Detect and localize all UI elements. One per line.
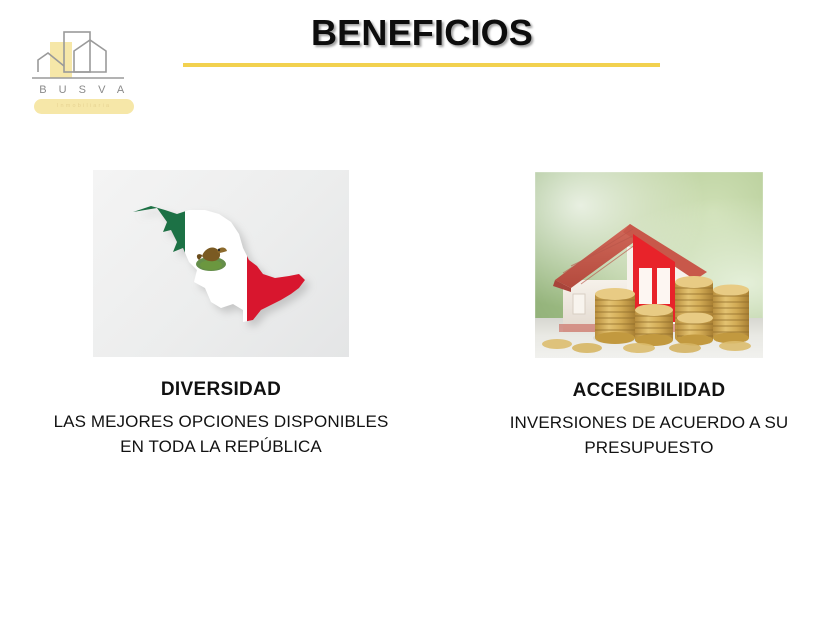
slide: B U S V A Inmobiliaria BENEFICIOS — [0, 0, 840, 630]
house-with-coin-stacks-image — [535, 172, 763, 358]
logo-tagline: Inmobiliaria — [34, 99, 134, 114]
slide-title: BENEFICIOS — [183, 12, 661, 54]
caption-body-diversidad: LAS MEJORES OPCIONES DISPONIBLES EN TODA… — [18, 409, 424, 459]
mexico-map-flag-image — [93, 170, 349, 357]
caption-line: PRESUPUESTO — [470, 435, 828, 460]
column-accesibilidad: ACCESIBILIDAD INVERSIONES DE ACUERDO A S… — [470, 170, 828, 460]
caption-heading-accesibilidad: ACCESIBILIDAD — [470, 379, 828, 403]
caption-line: LAS MEJORES OPCIONES DISPONIBLES — [18, 409, 424, 434]
logo-wordmark: B U S V A — [28, 84, 140, 96]
building-outline-icon — [28, 26, 140, 88]
caption-heading-diversidad: DIVERSIDAD — [18, 378, 424, 402]
caption-line: EN TODA LA REPÚBLICA — [18, 434, 424, 459]
column-diversidad: DIVERSIDAD LAS MEJORES OPCIONES DISPONIB… — [18, 170, 424, 459]
caption-line: INVERSIONES DE ACUERDO A SU — [470, 410, 828, 435]
caption-body-accesibilidad: INVERSIONES DE ACUERDO A SU PRESUPUESTO — [470, 410, 828, 460]
title-underline-rule — [183, 63, 660, 67]
logo-tagline-band: Inmobiliaria — [34, 99, 134, 114]
busva-logo: B U S V A Inmobiliaria — [28, 26, 140, 118]
